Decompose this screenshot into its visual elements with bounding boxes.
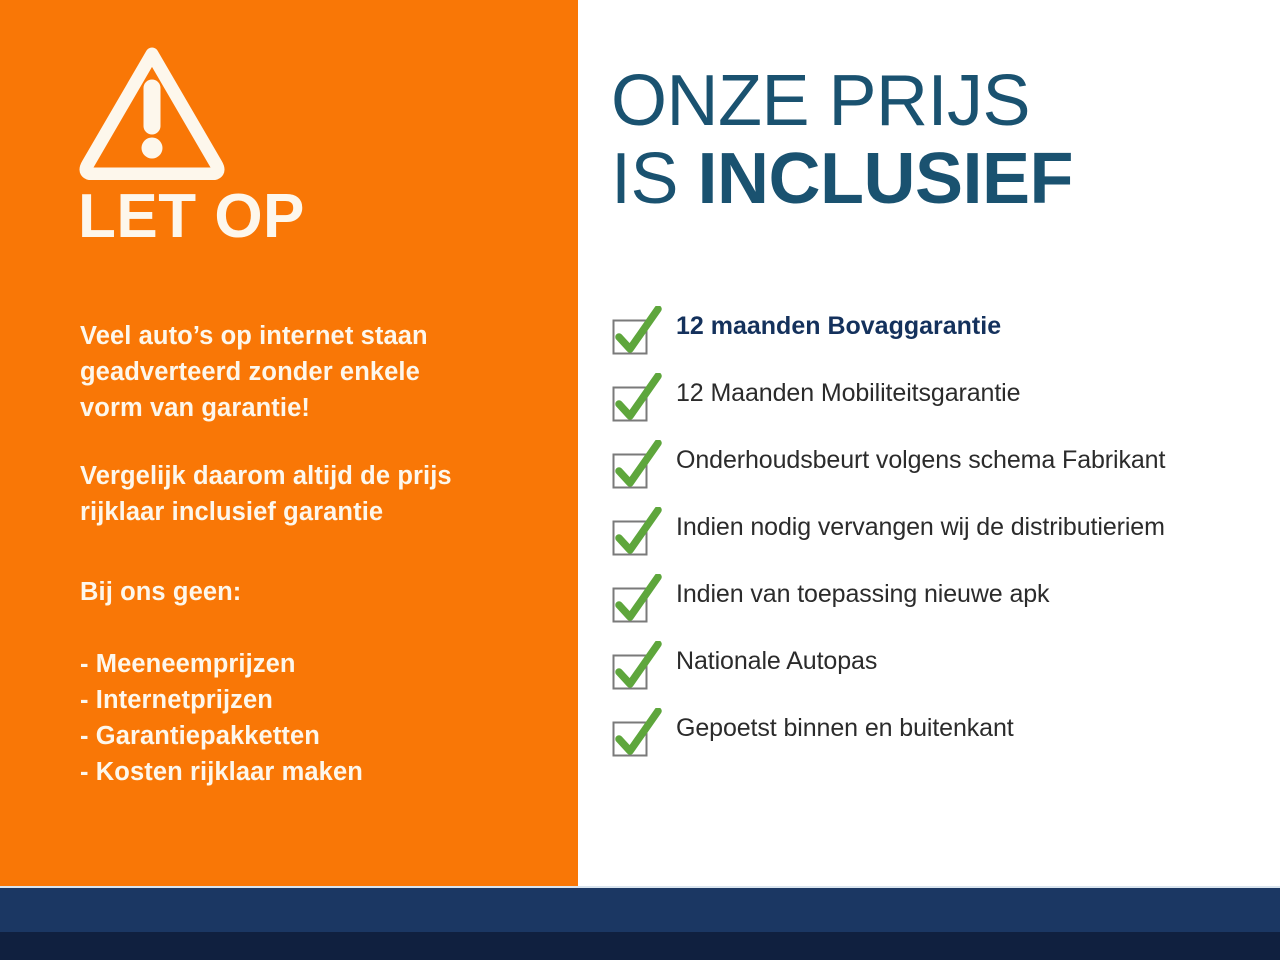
warning-paragraph-1: Veel auto’s op internet staan geadvertee… bbox=[80, 318, 560, 426]
list-item-label: Nationale Autopas bbox=[663, 635, 877, 687]
footer-bar-dark bbox=[0, 932, 1280, 960]
list-item: Indien van toepassing nieuwe apk bbox=[611, 568, 1271, 635]
checked-checkbox-icon bbox=[611, 641, 663, 693]
warning-paragraph-1-line: Veel auto’s op internet staan bbox=[80, 318, 560, 354]
headline-line-2-strong: INCLUSIEF bbox=[698, 139, 1074, 219]
checked-checkbox-icon bbox=[611, 507, 663, 559]
warning-paragraph-1-line: geadverteerd zonder enkele bbox=[80, 354, 560, 390]
checked-checkbox-icon bbox=[611, 373, 663, 425]
checked-checkbox-icon bbox=[611, 574, 663, 626]
headline: ONZE PRIJS IS INCLUSIEF bbox=[611, 62, 1073, 218]
page-title: LET OP bbox=[78, 186, 305, 248]
headline-line-2-prefix: IS bbox=[611, 139, 698, 219]
headline-line-1: ONZE PRIJS bbox=[611, 62, 1073, 140]
exclusion-list-item: - Kosten rijklaar maken bbox=[80, 754, 560, 790]
warning-paragraph-2: Vergelijk daarom altijd de prijs rijklaa… bbox=[80, 458, 560, 530]
warning-paragraph-1-line: vorm van garantie! bbox=[80, 390, 560, 426]
exclusions-heading: Bij ons geen: bbox=[80, 574, 560, 610]
list-item: 12 Maanden Mobiliteitsgarantie bbox=[611, 367, 1271, 434]
list-item-label: Gepoetst binnen en buitenkant bbox=[663, 702, 1014, 754]
checked-checkbox-icon bbox=[611, 708, 663, 760]
exclusions-list: - Meeneemprijzen - Internetprijzen - Gar… bbox=[80, 646, 560, 790]
checked-checkbox-icon bbox=[611, 306, 663, 358]
warning-triangle-icon bbox=[76, 44, 228, 180]
list-item-label: Indien nodig vervangen wij de distributi… bbox=[663, 501, 1165, 553]
exclusion-list-item: - Garantiepakketten bbox=[80, 718, 560, 754]
list-item: Onderhoudsbeurt volgens schema Fabrikant bbox=[611, 434, 1271, 501]
inclusions-panel: ONZE PRIJS IS INCLUSIEF 12 maanden Bovag… bbox=[578, 0, 1280, 886]
footer-bar-light bbox=[0, 888, 1280, 932]
list-item-label: 12 Maanden Mobiliteitsgarantie bbox=[663, 367, 1020, 419]
list-item-label: Onderhoudsbeurt volgens schema Fabrikant bbox=[663, 434, 1165, 486]
list-item: Indien nodig vervangen wij de distributi… bbox=[611, 501, 1271, 568]
warning-panel: LET OP Veel auto’s op internet staan gea… bbox=[0, 0, 578, 886]
promo-banner: LET OP Veel auto’s op internet staan gea… bbox=[0, 0, 1280, 960]
list-item: 12 maanden Bovaggarantie bbox=[611, 300, 1271, 367]
headline-line-2: IS INCLUSIEF bbox=[611, 140, 1073, 218]
warning-paragraph-2-line: Vergelijk daarom altijd de prijs bbox=[80, 458, 560, 494]
list-item: Nationale Autopas bbox=[611, 635, 1271, 702]
inclusions-checklist: 12 maanden Bovaggarantie 12 Maanden Mobi… bbox=[611, 300, 1271, 769]
checked-checkbox-icon bbox=[611, 440, 663, 492]
warning-paragraph-2-line: rijklaar inclusief garantie bbox=[80, 494, 560, 530]
exclusions-heading-line: Bij ons geen: bbox=[80, 574, 560, 610]
exclusion-list-item: - Internetprijzen bbox=[80, 682, 560, 718]
list-item-label: 12 maanden Bovaggarantie bbox=[663, 300, 1001, 352]
list-item: Gepoetst binnen en buitenkant bbox=[611, 702, 1271, 769]
list-item-label: Indien van toepassing nieuwe apk bbox=[663, 568, 1049, 620]
exclusion-list-item: - Meeneemprijzen bbox=[80, 646, 560, 682]
